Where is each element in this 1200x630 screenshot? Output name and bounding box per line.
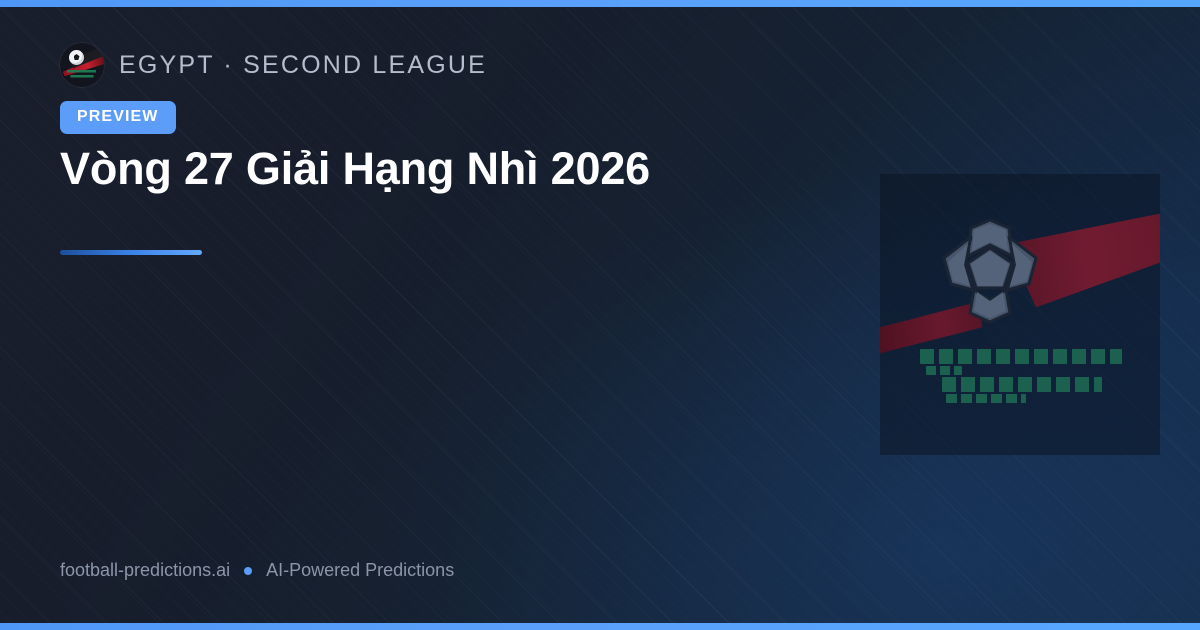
emblem-arabic-line-2-tail bbox=[946, 394, 1026, 403]
page-title: Vòng 27 Giải Hạng Nhì 2026 bbox=[60, 142, 850, 195]
emblem-panel bbox=[880, 174, 1160, 455]
bullet-dot-icon bbox=[244, 567, 252, 575]
footer-site-name: football-predictions.ai bbox=[60, 560, 230, 581]
card-content: EGYPT · SECOND LEAGUE PREVIEW Vòng 27 Gi… bbox=[60, 0, 860, 630]
title-underline-accent bbox=[60, 250, 202, 255]
league-logo-ball-icon bbox=[69, 50, 84, 65]
egypt-football-association-emblem bbox=[880, 174, 1160, 455]
league-header: EGYPT · SECOND LEAGUE bbox=[60, 43, 487, 87]
status-badge: PREVIEW bbox=[60, 101, 176, 134]
emblem-arabic-line-1-tail bbox=[926, 366, 962, 375]
soccer-ball-icon bbox=[937, 218, 1043, 324]
preview-card: EGYPT · SECOND LEAGUE PREVIEW Vòng 27 Gi… bbox=[0, 0, 1200, 630]
footer: football-predictions.ai AI-Powered Predi… bbox=[60, 560, 454, 581]
bottom-accent-bar bbox=[0, 623, 1200, 630]
league-logo-arabic-text-icon bbox=[66, 69, 98, 81]
footer-tagline: AI-Powered Predictions bbox=[266, 560, 454, 581]
top-accent-bar bbox=[0, 0, 1200, 7]
league-title: EGYPT · SECOND LEAGUE bbox=[119, 51, 487, 80]
league-logo-icon bbox=[60, 43, 104, 87]
emblem-arabic-line-2 bbox=[942, 377, 1102, 392]
emblem-arabic-line-1 bbox=[920, 349, 1122, 364]
